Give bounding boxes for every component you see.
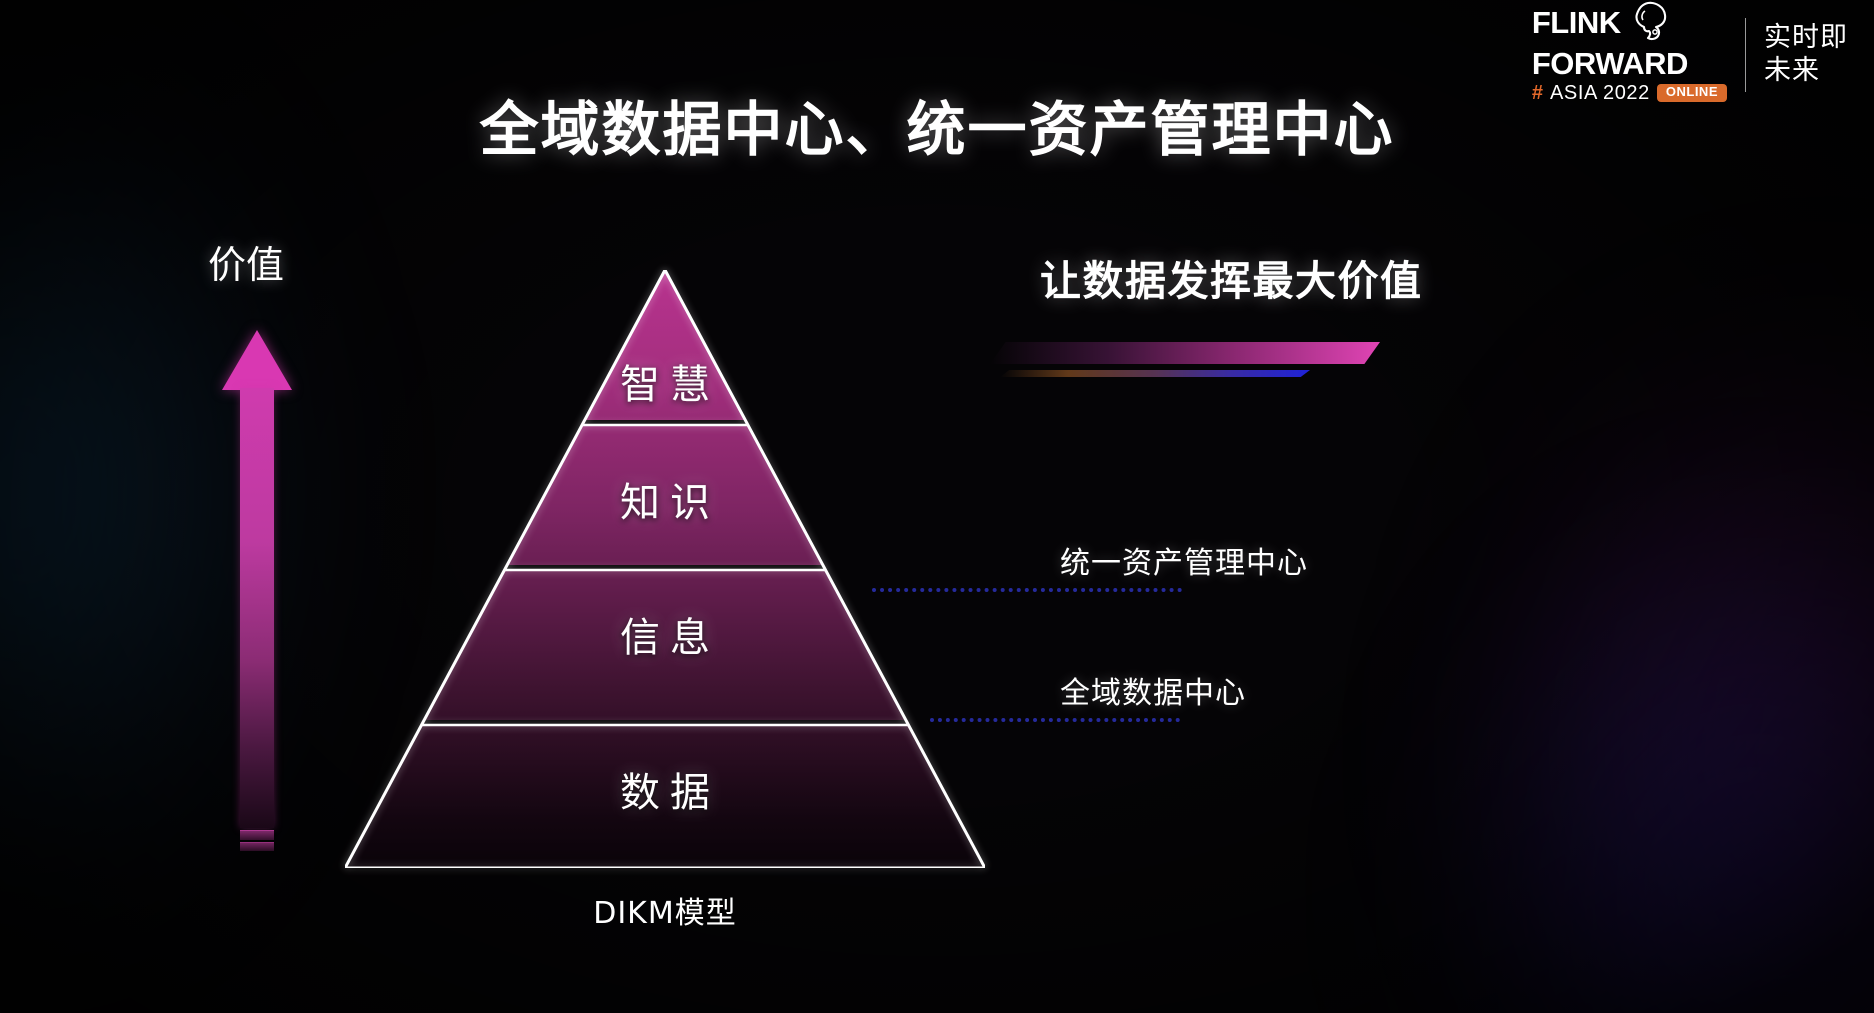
accent-bar-secondary xyxy=(1000,370,1310,377)
logo-tagline-line-1: 实时即 xyxy=(1764,22,1848,55)
logo-word-forward: FORWARD xyxy=(1532,49,1688,78)
pyramid-label-data: 数据 xyxy=(345,760,985,818)
glow-right xyxy=(1474,313,1874,1013)
logo-tagline: 实时即 未来 xyxy=(1764,22,1848,88)
pyramid-label-wisdom: 智慧 xyxy=(345,352,985,410)
callout-asset-label: 统一资产管理中心 xyxy=(1060,538,1308,582)
callout-global-data-center: 全域数据中心 xyxy=(1060,668,1246,722)
accent-bar-primary xyxy=(990,342,1380,364)
value-axis-label: 价值 xyxy=(208,234,284,289)
squirrel-icon xyxy=(1626,0,1672,48)
pyramid-caption: DIKM模型 xyxy=(345,888,985,932)
slide-title: 全域数据中心、统一资产管理中心 xyxy=(0,82,1874,167)
arrow-base-segment-1 xyxy=(240,830,274,840)
callout-asset-leader-line xyxy=(872,588,1182,592)
logo-word-flink: FLINK xyxy=(1532,8,1621,37)
arrow-base-segment-2 xyxy=(240,842,274,851)
dikm-pyramid: 智慧 知识 信息 数据 xyxy=(345,270,985,868)
pyramid-label-knowledge: 知识 xyxy=(345,470,985,528)
slide-canvas: FLINK FORWARD # ASIA 2022 ONLINE 实时即 未来 xyxy=(0,0,1874,1013)
pyramid-label-information: 信息 xyxy=(345,605,985,663)
callout-data-leader-line xyxy=(930,718,1180,722)
arrow-head xyxy=(222,330,292,390)
light-ribbon-left-7 xyxy=(0,66,401,1013)
up-arrow-icon xyxy=(222,330,292,875)
callout-asset-management: 统一资产管理中心 xyxy=(1060,538,1308,592)
glow-right-bottom xyxy=(1434,513,1874,1013)
right-headline: 让数据发挥最大价值 xyxy=(1040,247,1423,307)
logo-top-row: FLINK xyxy=(1532,8,1672,48)
callout-data-label: 全域数据中心 xyxy=(1060,668,1246,712)
arrow-shaft xyxy=(240,388,274,828)
